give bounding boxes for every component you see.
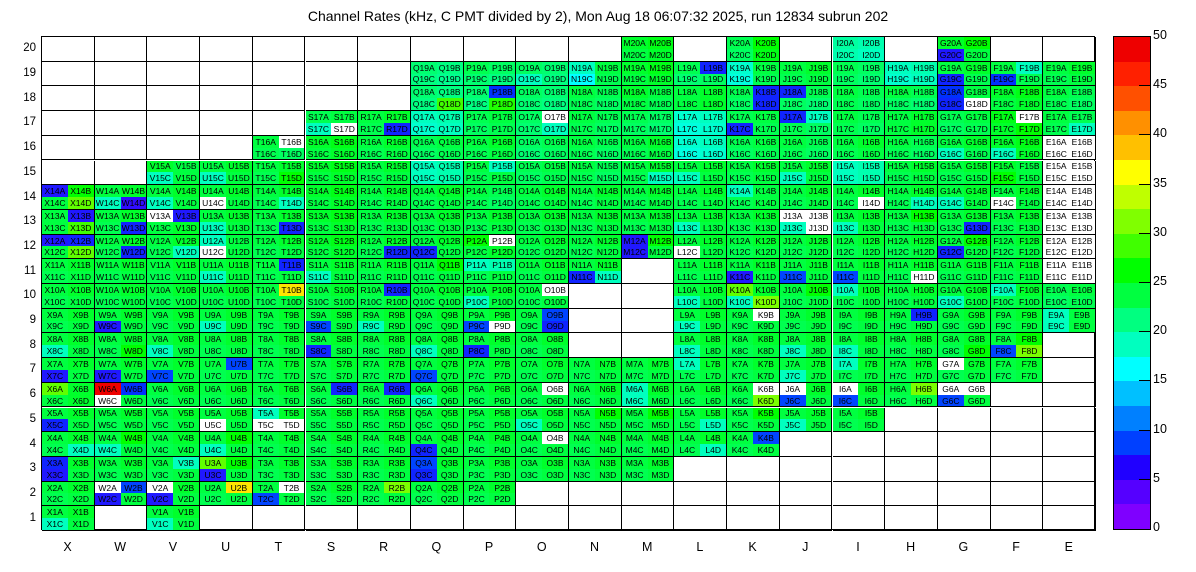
heatmap-subcell: N6B (595, 383, 621, 395)
heatmap-subcell: U3C (200, 469, 226, 481)
heatmap-grid: M20AM20BM20CM20DK20AK20BK20CK20DI20AI20B… (41, 36, 1095, 530)
heatmap-cell: W11AW11BW11CW11D (95, 259, 148, 284)
heatmap-subcell: J18B (806, 86, 832, 98)
heatmap-subcell: K7A (727, 358, 753, 370)
heatmap-subcell: J18A (780, 86, 806, 98)
heatmap-subcell: H6C (885, 395, 911, 407)
heatmap-subcell: G8C (938, 345, 964, 357)
heatmap-subcell: R17D (384, 123, 410, 135)
heatmap-subcell: U4B (226, 432, 252, 444)
heatmap-subcell: W9A (95, 309, 121, 321)
heatmap-subcell: V6A (147, 383, 173, 395)
colorbar-tick-label: 10 (1153, 423, 1167, 435)
heatmap-subcell: R7C (358, 370, 384, 382)
heatmap-cell: H7AH7BH7CH7D (885, 358, 938, 383)
heatmap-subcell: M16C (622, 148, 648, 160)
heatmap-subcell: L4C (674, 444, 700, 456)
heatmap-subcell: W12C (95, 246, 121, 258)
heatmap-cell: J5AJ5BJ5CJ5D (780, 408, 833, 433)
heatmap-subcell: I6D (858, 395, 884, 407)
heatmap-subcell: J14B (806, 185, 832, 197)
heatmap-subcell: X8A (42, 333, 68, 345)
heatmap-subcell: J18C (780, 98, 806, 110)
heatmap-subcell: J13A (780, 210, 806, 222)
heatmap-subcell: N5C (569, 419, 595, 431)
heatmap-subcell: M5B (648, 408, 674, 420)
heatmap-subcell: U4A (200, 432, 226, 444)
heatmap-cell (885, 432, 938, 457)
heatmap-subcell: V6B (173, 383, 199, 395)
heatmap-subcell: G15B (964, 161, 990, 173)
heatmap-subcell: S9B (331, 309, 357, 321)
heatmap-subcell: K6D (753, 395, 779, 407)
heatmap-subcell: E17B (1069, 111, 1095, 123)
heatmap-subcell: P6B (489, 383, 515, 395)
heatmap-subcell: K20A (727, 37, 753, 49)
y-axis-tick-label: 2 (2, 487, 36, 499)
heatmap-subcell: F14A (991, 185, 1017, 197)
heatmap-cell: G9AG9BG9CG9D (938, 309, 991, 334)
heatmap-subcell: H17A (885, 111, 911, 123)
heatmap-cell: G12AG12BG12CG12D (938, 235, 991, 260)
heatmap-cell: J9AJ9BJ9CJ9D (780, 309, 833, 334)
heatmap-subcell: F18A (991, 86, 1017, 98)
heatmap-subcell: S8B (331, 333, 357, 345)
heatmap-cell (306, 506, 359, 531)
heatmap-cell: R9AR9BR9CR9D (358, 309, 411, 334)
heatmap-subcell: W8C (95, 345, 121, 357)
heatmap-subcell: F17C (991, 123, 1017, 135)
heatmap-subcell: T5C (253, 419, 279, 431)
heatmap-cell: Q3AQ3BQ3CQ3D (411, 457, 464, 482)
heatmap-subcell: N19D (595, 74, 621, 86)
heatmap-subcell: W14B (121, 185, 147, 197)
heatmap-subcell: G19D (964, 74, 990, 86)
heatmap-subcell: Q15D (437, 172, 463, 184)
heatmap-cell: Q6AQ6BQ6CQ6D (411, 383, 464, 408)
heatmap-subcell: W8D (121, 345, 147, 357)
heatmap-subcell: O12C (516, 246, 542, 258)
heatmap-subcell: H18A (885, 86, 911, 98)
heatmap-cell (306, 86, 359, 111)
heatmap-subcell: Q4A (411, 432, 437, 444)
heatmap-subcell: P6D (489, 395, 515, 407)
heatmap-subcell: M12C (622, 246, 648, 258)
heatmap-cell: M16AM16BM16CM16D (622, 136, 675, 161)
heatmap-subcell: L9B (700, 309, 726, 321)
heatmap-subcell: S15C (306, 172, 332, 184)
heatmap-cell: N17AN17BN17CN17D (569, 111, 622, 136)
heatmap-subcell: W11A (95, 259, 121, 271)
heatmap-subcell: J14D (806, 197, 832, 209)
heatmap-cell: Q11AQ11BQ11CQ11D (411, 259, 464, 284)
heatmap-subcell: V10D (173, 296, 199, 308)
heatmap-subcell: K5B (753, 408, 779, 420)
heatmap-subcell: S6C (306, 395, 332, 407)
heatmap-subcell: I10D (858, 296, 884, 308)
heatmap-cell: L9AL9BL9CL9D (674, 309, 727, 334)
heatmap-subcell: F12A (991, 235, 1017, 247)
heatmap-subcell: Q5A (411, 408, 437, 420)
heatmap-subcell: U10B (226, 284, 252, 296)
heatmap-subcell: V14D (173, 197, 199, 209)
heatmap-subcell: M18D (648, 98, 674, 110)
heatmap-subcell: J7A (780, 358, 806, 370)
heatmap-subcell: Q13A (411, 210, 437, 222)
heatmap-subcell: N11B (595, 259, 621, 271)
heatmap-subcell: J13B (806, 210, 832, 222)
heatmap-subcell: Q3D (437, 469, 463, 481)
heatmap-subcell: O13A (516, 210, 542, 222)
heatmap-subcell: R12D (384, 246, 410, 258)
heatmap-subcell: G12D (964, 246, 990, 258)
heatmap-subcell: L6A (674, 383, 700, 395)
heatmap-subcell: N11C (569, 271, 595, 283)
heatmap-subcell: U11B (226, 259, 252, 271)
heatmap-subcell: T7D (279, 370, 305, 382)
heatmap-subcell: E19A (1043, 62, 1069, 74)
heatmap-subcell: Q12D (437, 246, 463, 258)
heatmap-subcell: Q10A (411, 284, 437, 296)
heatmap-subcell: Q6C (411, 395, 437, 407)
heatmap-subcell: N16D (595, 148, 621, 160)
heatmap-subcell: W14D (121, 197, 147, 209)
heatmap-subcell: J9A (780, 309, 806, 321)
heatmap-cell: N6AN6BN6CN6D (569, 383, 622, 408)
heatmap-subcell: U4C (200, 444, 226, 456)
heatmap-subcell: O19C (516, 74, 542, 86)
heatmap-subcell: V6D (173, 395, 199, 407)
heatmap-subcell: X6C (42, 395, 68, 407)
heatmap-subcell: E11C (1043, 271, 1069, 283)
heatmap-subcell: L13D (700, 222, 726, 234)
heatmap-subcell: N17D (595, 123, 621, 135)
heatmap-cell: V11AV11BV11CV11D (147, 259, 200, 284)
heatmap-cell: V13AV13BV13CV13D (147, 210, 200, 235)
heatmap-subcell: K19B (753, 62, 779, 74)
colorbar-tick-mark (1139, 282, 1151, 283)
heatmap-subcell: N7B (595, 358, 621, 370)
heatmap-subcell: U12B (226, 235, 252, 247)
heatmap-subcell: J18D (806, 98, 832, 110)
heatmap-subcell: K7D (753, 370, 779, 382)
heatmap-cell: L6AL6BL6CL6D (674, 383, 727, 408)
heatmap-cell: U6AU6BU6CU6D (200, 383, 253, 408)
heatmap-subcell: P5C (464, 419, 490, 431)
heatmap-subcell: S4C (306, 444, 332, 456)
heatmap-cell (95, 37, 148, 62)
heatmap-subcell: X5D (68, 419, 94, 431)
heatmap-subcell: I18B (858, 86, 884, 98)
heatmap-subcell: H9C (885, 321, 911, 333)
heatmap-subcell: J10D (806, 296, 832, 308)
heatmap-subcell: K4C (727, 444, 753, 456)
heatmap-subcell: L12C (674, 246, 700, 258)
heatmap-subcell: F16A (991, 136, 1017, 148)
heatmap-subcell: R17B (384, 111, 410, 123)
heatmap-cell: J6AJ6BJ6CJ6D (780, 383, 833, 408)
heatmap-subcell: T12D (279, 246, 305, 258)
heatmap-subcell: S14B (331, 185, 357, 197)
heatmap-subcell: P6A (464, 383, 490, 395)
heatmap-cell: X8AX8BX8CX8D (42, 333, 95, 358)
heatmap-cell (200, 86, 253, 111)
heatmap-subcell: F12B (1016, 235, 1042, 247)
heatmap-cell: P11AP11BP11CP11D (464, 259, 517, 284)
heatmap-subcell: V10B (173, 284, 199, 296)
channel-rates-figure: Channel Rates (kHz, C PMT divided by 2),… (0, 0, 1196, 572)
heatmap-subcell: S9A (306, 309, 332, 321)
heatmap-subcell: P16C (464, 148, 490, 160)
heatmap-subcell: R10A (358, 284, 384, 296)
heatmap-subcell: T8B (279, 333, 305, 345)
heatmap-subcell: S3B (331, 457, 357, 469)
heatmap-cell: E13AE13BE13CE13D (1043, 210, 1096, 235)
heatmap-cell: U12AU12BU12CU12D (200, 235, 253, 260)
heatmap-cell (42, 37, 95, 62)
heatmap-subcell: L6C (674, 395, 700, 407)
heatmap-subcell: M17D (648, 123, 674, 135)
heatmap-cell: N14AN14BN14CN14D (569, 185, 622, 210)
heatmap-subcell: V1D (173, 518, 199, 530)
heatmap-subcell: Q6B (437, 383, 463, 395)
heatmap-cell: U13AU13BU13CU13D (200, 210, 253, 235)
heatmap-subcell: L12A (674, 235, 700, 247)
heatmap-subcell: M14D (648, 197, 674, 209)
heatmap-subcell: J17D (806, 123, 832, 135)
heatmap-cell: I14AI14BI14CI14D (833, 185, 886, 210)
heatmap-subcell: I19A (833, 62, 859, 74)
heatmap-subcell: O14C (516, 197, 542, 209)
colorbar-tick-label: 40 (1153, 127, 1167, 139)
heatmap-subcell: O19B (542, 62, 568, 74)
heatmap-subcell: P3B (489, 457, 515, 469)
heatmap-subcell: Q15A (411, 161, 437, 173)
heatmap-subcell: P17D (489, 123, 515, 135)
heatmap-subcell: Q3A (411, 457, 437, 469)
heatmap-subcell: K10B (753, 284, 779, 296)
heatmap-cell: W5AW5BW5CW5D (95, 408, 148, 433)
heatmap-subcell: G12B (964, 235, 990, 247)
heatmap-subcell: V11D (173, 271, 199, 283)
heatmap-subcell: U9C (200, 321, 226, 333)
heatmap-subcell: O17A (516, 111, 542, 123)
heatmap-subcell: E10A (1043, 284, 1069, 296)
heatmap-cell: J17AJ17BJ17CJ17D (780, 111, 833, 136)
heatmap-subcell: U5B (226, 408, 252, 420)
heatmap-subcell: K18D (753, 98, 779, 110)
y-axis-tick-label: 11 (2, 265, 36, 277)
heatmap-subcell: X11C (42, 271, 68, 283)
heatmap-subcell: F13D (1016, 222, 1042, 234)
heatmap-subcell: R2B (384, 482, 410, 494)
heatmap-cell (833, 506, 886, 531)
heatmap-subcell: I19B (858, 62, 884, 74)
heatmap-subcell: I19D (858, 74, 884, 86)
heatmap-cell: J10AJ10BJ10CJ10D (780, 284, 833, 309)
heatmap-subcell: I11D (858, 271, 884, 283)
heatmap-subcell: G11A (938, 259, 964, 271)
heatmap-subcell: Q9B (437, 309, 463, 321)
heatmap-subcell: G12C (938, 246, 964, 258)
heatmap-subcell: R16B (384, 136, 410, 148)
heatmap-subcell: H9A (885, 309, 911, 321)
heatmap-subcell: X12A (42, 235, 68, 247)
heatmap-subcell: G16B (964, 136, 990, 148)
heatmap-subcell: H6D (911, 395, 937, 407)
heatmap-cell (727, 457, 780, 482)
heatmap-subcell: N6A (569, 383, 595, 395)
heatmap-cell: V10AV10BV10CV10D (147, 284, 200, 309)
heatmap-subcell: L7C (674, 370, 700, 382)
heatmap-subcell: K10D (753, 296, 779, 308)
heatmap-cell (622, 259, 675, 284)
heatmap-subcell: T5B (279, 408, 305, 420)
heatmap-subcell: M4D (648, 444, 674, 456)
heatmap-subcell: L10A (674, 284, 700, 296)
heatmap-cell (253, 86, 306, 111)
heatmap-cell: F11AF11BF11CF11D (991, 259, 1044, 284)
heatmap-cell: V14AV14BV14CV14D (147, 185, 200, 210)
heatmap-subcell: I13B (858, 210, 884, 222)
heatmap-cell: G17AG17BG17CG17D (938, 111, 991, 136)
heatmap-subcell: T10B (279, 284, 305, 296)
heatmap-subcell: L18B (700, 86, 726, 98)
heatmap-subcell: I6B (858, 383, 884, 395)
heatmap-subcell: V9D (173, 321, 199, 333)
heatmap-cell: O6AO6BO6CO6D (516, 383, 569, 408)
heatmap-subcell: R11C (358, 271, 384, 283)
heatmap-subcell: I12C (833, 246, 859, 258)
heatmap-subcell: R15A (358, 161, 384, 173)
y-axis-labels: 2019181716151413121110987654321 (0, 36, 36, 530)
heatmap-cell: O17AO17BO17CO17D (516, 111, 569, 136)
heatmap-cell (622, 506, 675, 531)
heatmap-cell: H8AH8BH8CH8D (885, 333, 938, 358)
heatmap-subcell: G9B (964, 309, 990, 321)
heatmap-subcell: F18C (991, 98, 1017, 110)
heatmap-subcell: T12B (279, 235, 305, 247)
heatmap-subcell: Q16A (411, 136, 437, 148)
heatmap-cell: V5AV5BV5CV5D (147, 408, 200, 433)
heatmap-cell: F16AF16BF16CF16D (991, 136, 1044, 161)
heatmap-subcell: Q5C (411, 419, 437, 431)
heatmap-subcell: G9A (938, 309, 964, 321)
heatmap-subcell: L5D (700, 419, 726, 431)
heatmap-cell: M17AM17BM17CM17D (622, 111, 675, 136)
heatmap-cell: U3AU3BU3CU3D (200, 457, 253, 482)
heatmap-cell: V12AV12BV12CV12D (147, 235, 200, 260)
heatmap-subcell: I17D (858, 123, 884, 135)
heatmap-subcell: E14B (1069, 185, 1095, 197)
heatmap-subcell: T15A (253, 161, 279, 173)
heatmap-subcell: V4D (173, 444, 199, 456)
heatmap-subcell: U9B (226, 309, 252, 321)
heatmap-cell: H18AH18BH18CH18D (885, 86, 938, 111)
heatmap-cell: P8AP8BP8CP8D (464, 333, 517, 358)
heatmap-subcell: S2B (331, 482, 357, 494)
heatmap-subcell: N12B (595, 235, 621, 247)
heatmap-cell (674, 482, 727, 507)
heatmap-subcell: V9C (147, 321, 173, 333)
heatmap-cell: K19AK19BK19CK19D (727, 62, 780, 87)
heatmap-subcell: M6C (622, 395, 648, 407)
heatmap-subcell: Q9D (437, 321, 463, 333)
heatmap-subcell: Q18D (437, 98, 463, 110)
heatmap-subcell: E10C (1043, 296, 1069, 308)
heatmap-subcell: Q5B (437, 408, 463, 420)
heatmap-cell: G13AG13BG13CG13D (938, 210, 991, 235)
heatmap-subcell: N19C (569, 74, 595, 86)
heatmap-subcell: P16A (464, 136, 490, 148)
heatmap-subcell: T11A (253, 259, 279, 271)
heatmap-subcell: S9D (331, 321, 357, 333)
heatmap-subcell: O18D (542, 98, 568, 110)
heatmap-subcell: W13B (121, 210, 147, 222)
heatmap-subcell: Q4B (437, 432, 463, 444)
heatmap-subcell: W8B (121, 333, 147, 345)
heatmap-subcell: S4D (331, 444, 357, 456)
colorbar-tick-label: 20 (1153, 324, 1167, 336)
heatmap-subcell: H7D (911, 370, 937, 382)
heatmap-cell: I17AI17BI17CI17D (833, 111, 886, 136)
heatmap-subcell: S13D (331, 222, 357, 234)
heatmap-subcell: F9A (991, 309, 1017, 321)
heatmap-subcell: R5A (358, 408, 384, 420)
heatmap-cell (885, 506, 938, 531)
heatmap-subcell: I17C (833, 123, 859, 135)
heatmap-subcell: V9B (173, 309, 199, 321)
heatmap-subcell: X13B (68, 210, 94, 222)
heatmap-subcell: H16B (911, 136, 937, 148)
heatmap-cell: Q16AQ16BQ16CQ16D (411, 136, 464, 161)
heatmap-subcell: R17C (358, 123, 384, 135)
heatmap-cell: H14AH14BH14CH14D (885, 185, 938, 210)
heatmap-subcell: R14D (384, 197, 410, 209)
heatmap-subcell: N14A (569, 185, 595, 197)
heatmap-subcell: V3A (147, 457, 173, 469)
heatmap-subcell: F7D (1016, 370, 1042, 382)
heatmap-subcell: J14C (780, 197, 806, 209)
heatmap-cell (1043, 37, 1096, 62)
heatmap-subcell: X9A (42, 309, 68, 321)
heatmap-cell (991, 383, 1044, 408)
heatmap-subcell: Q8B (437, 333, 463, 345)
heatmap-subcell: S6A (306, 383, 332, 395)
heatmap-subcell: L4D (700, 444, 726, 456)
y-axis-tick-label: 19 (2, 67, 36, 79)
heatmap-cell: S14AS14BS14CS14D (306, 185, 359, 210)
heatmap-subcell: L14D (700, 197, 726, 209)
heatmap-cell: U14AU14BU14CU14D (200, 185, 253, 210)
heatmap-subcell: R2C (358, 493, 384, 505)
heatmap-subcell: K6B (753, 383, 779, 395)
heatmap-subcell: X14B (68, 185, 94, 197)
heatmap-subcell: M13B (648, 210, 674, 222)
heatmap-subcell: I16D (858, 148, 884, 160)
heatmap-subcell: N14D (595, 197, 621, 209)
heatmap-subcell: K9D (753, 321, 779, 333)
heatmap-subcell: F9B (1016, 309, 1042, 321)
x-axis-tick-label: X (41, 540, 94, 554)
heatmap-subcell: H11A (885, 259, 911, 271)
heatmap-cell (780, 432, 833, 457)
heatmap-subcell: R9D (384, 321, 410, 333)
heatmap-cell: K9AK9BK9CK9D (727, 309, 780, 334)
heatmap-subcell: T4B (279, 432, 305, 444)
heatmap-cell: S11AS11BS11CS11D (306, 259, 359, 284)
heatmap-subcell: K13D (753, 222, 779, 234)
